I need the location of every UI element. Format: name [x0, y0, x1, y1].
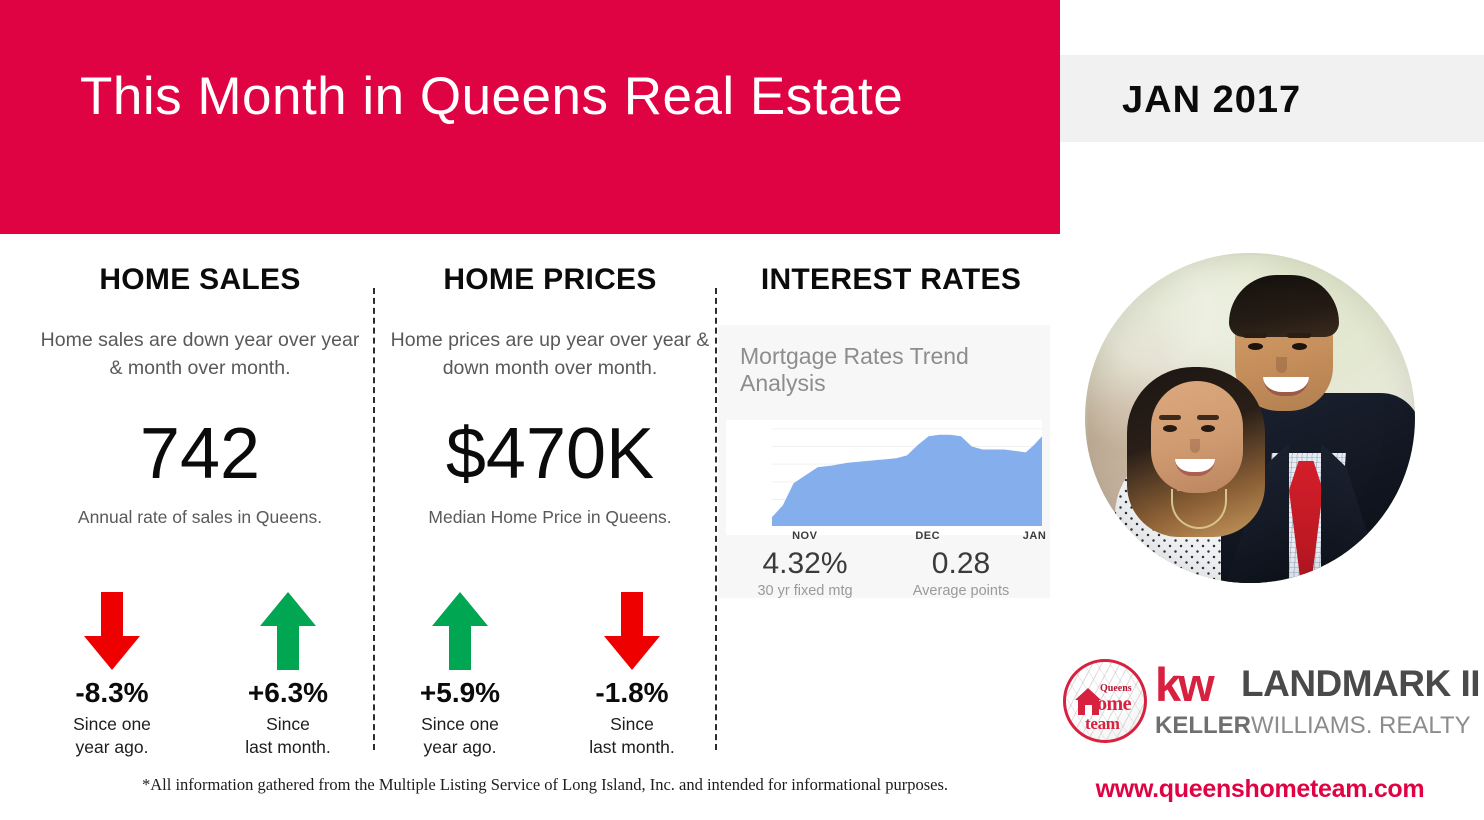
home-prices-title: HOME PRICES [385, 263, 715, 297]
arrow-up-icon [260, 592, 316, 670]
home-sales-description: Home sales are down year over year & mon… [35, 326, 365, 383]
chart-x-tick: JAN [1023, 530, 1047, 542]
stat-percent: -1.8% [552, 678, 712, 709]
stat-home-sales-yoy: -8.3% Since oneyear ago. [32, 592, 192, 758]
arrow-down-icon [84, 592, 140, 670]
footer-website-url[interactable]: www.queenshometeam.com [1045, 775, 1475, 804]
kpi-mortgage-rate-value: 4.32% [730, 547, 880, 580]
queens-home-team-badge: Queens ome team [1063, 659, 1147, 743]
column-divider-2 [715, 288, 717, 750]
brand-logo: Queens ome team kw LANDMARK II KELLERWIL… [1063, 657, 1443, 749]
interest-rates-title: INTEREST RATES [726, 263, 1056, 297]
arrow-up-icon [432, 592, 488, 670]
kpi-average-points-value: 0.28 [886, 547, 1036, 580]
chart-title: Mortgage Rates Trend Analysis [740, 343, 1020, 397]
kpi-average-points-label: Average points [886, 583, 1036, 599]
page-title: This Month in Queens Real Estate [80, 68, 1040, 126]
home-prices-caption: Median Home Price in Queens. [385, 507, 715, 528]
stat-note: Since oneyear ago. [380, 713, 540, 759]
stat-home-sales-mom: +6.3% Sincelast month. [208, 592, 368, 758]
kw-mark: kw [1155, 661, 1212, 708]
chart-x-tick: NOV [792, 530, 817, 542]
home-sales-title: HOME SALES [35, 263, 365, 297]
stat-home-prices-yoy: +5.9% Since oneyear ago. [380, 592, 540, 758]
stat-percent: -8.3% [32, 678, 192, 709]
home-prices-description: Home prices are up year over year & down… [385, 326, 715, 383]
kpi-mortgage-rate-label: 30 yr fixed mtg [730, 583, 880, 599]
badge-team-text: team [1085, 714, 1120, 734]
kw-sub-rest: WILLIAMS. REALTY [1251, 712, 1471, 739]
stat-home-prices-mom: -1.8% Sincelast month. [552, 592, 712, 758]
keller-williams-realty: KELLERWILLIAMS. REALTY [1155, 712, 1471, 740]
photo-vignette [1085, 253, 1415, 583]
footer-disclaimer: *All information gathered from the Multi… [60, 775, 1030, 795]
kw-office-name: LANDMARK II [1241, 665, 1480, 702]
agent-photo [1085, 253, 1415, 583]
area-series-fill [772, 435, 1042, 526]
home-prices-value: $470K [385, 418, 715, 490]
stat-percent: +5.9% [380, 678, 540, 709]
chart-plot-area [726, 420, 1042, 535]
column-divider-1 [373, 288, 375, 750]
stat-note: Sincelast month. [208, 713, 368, 759]
stat-note: Sincelast month. [552, 713, 712, 759]
arrow-down-icon [604, 592, 660, 670]
kpi-average-points: 0.28 Average points [886, 547, 1036, 599]
area-chart-svg [726, 420, 1042, 535]
badge-home-text: ome [1097, 693, 1131, 716]
date-label: JAN 2017 [1122, 79, 1301, 122]
home-sales-caption: Annual rate of sales in Queens. [35, 507, 365, 528]
stat-percent: +6.3% [208, 678, 368, 709]
kw-sub-bold: KELLER [1155, 712, 1251, 739]
mortgage-rates-card: Mortgage Rates Trend Analysis 4.38%4.26%… [718, 325, 1050, 598]
home-sales-value: 742 [35, 418, 365, 490]
kpi-mortgage-rate: 4.32% 30 yr fixed mtg [730, 547, 880, 599]
chart-x-tick: DEC [915, 530, 940, 542]
stat-note: Since oneyear ago. [32, 713, 192, 759]
